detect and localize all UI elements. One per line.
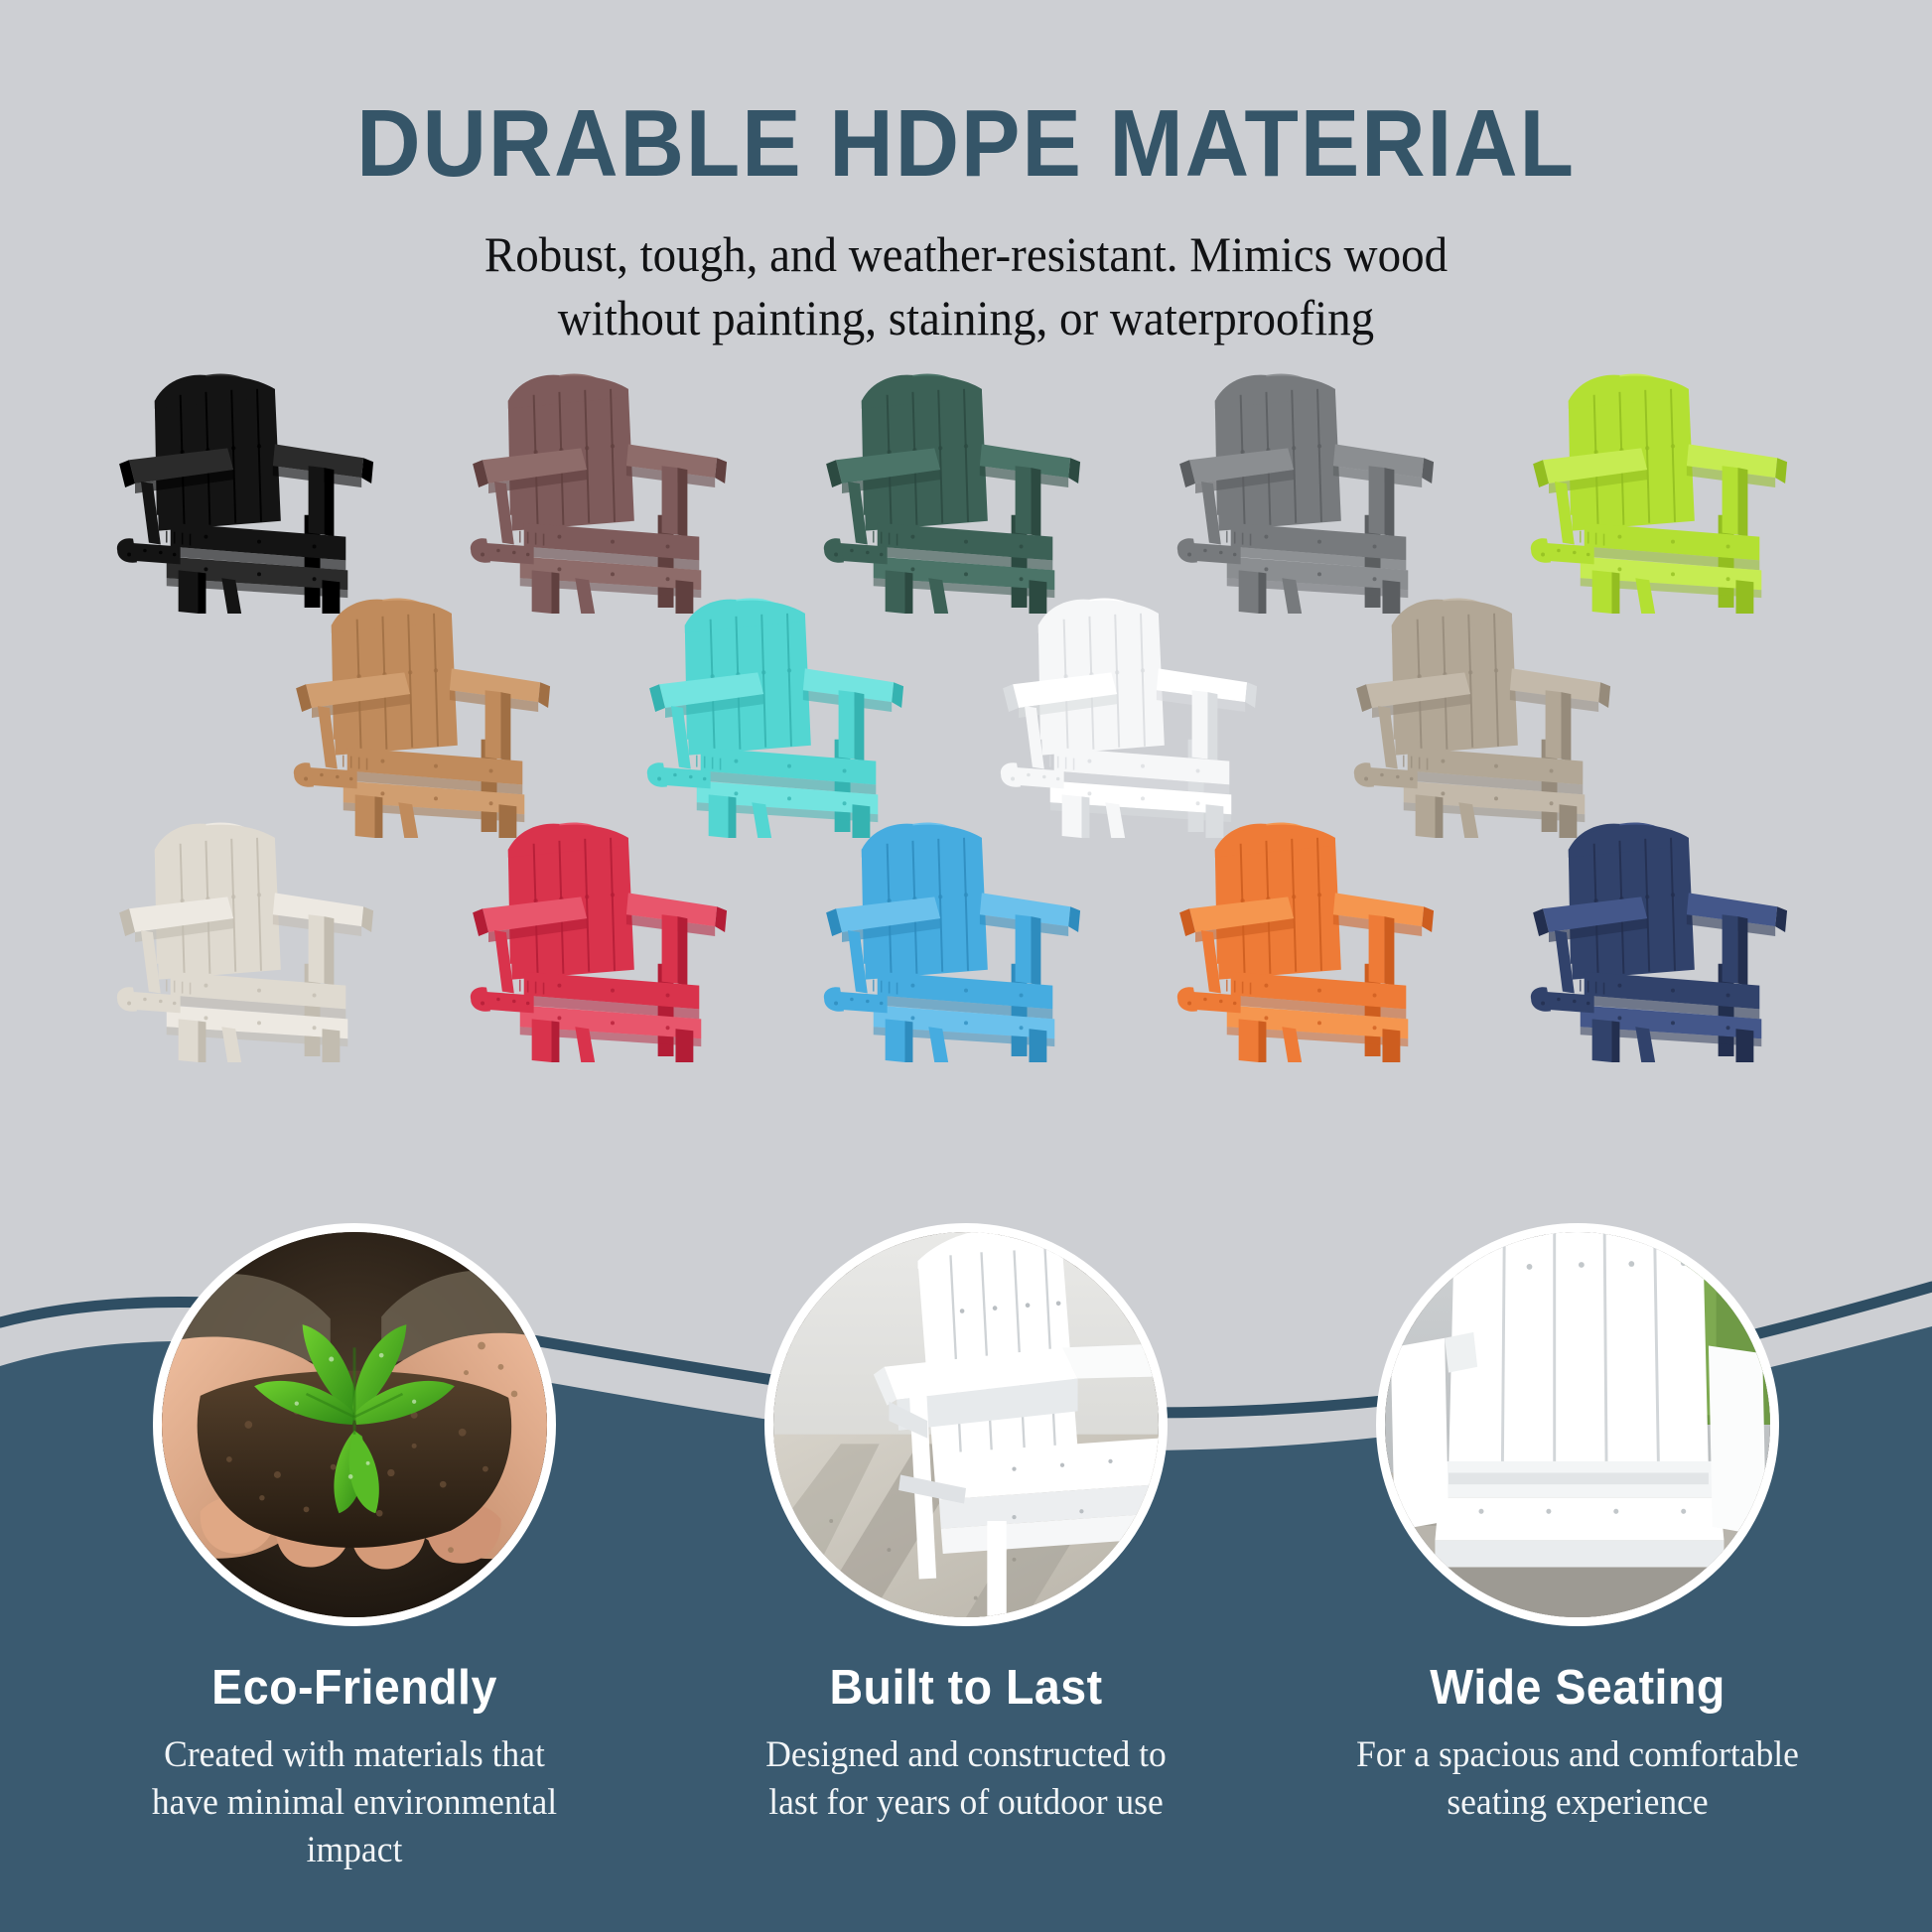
header: DURABLE HDPE MATERIAL Robust, tough, and… (0, 0, 1932, 349)
chair-swatch-navy-blue[interactable] (1524, 816, 1822, 1062)
feature-title: Built to Last (731, 1660, 1202, 1716)
feature-title: Wide Seating (1342, 1660, 1814, 1716)
chair-swatch-teak[interactable] (287, 592, 585, 838)
white-adirondack-wide-seat-photo (1376, 1223, 1779, 1626)
chair-swatch-ivory[interactable] (110, 816, 408, 1062)
page-subtitle: Robust, tough, and weather-resistant. Mi… (415, 222, 1516, 349)
chair-swatch-brown-mauve[interactable] (464, 367, 761, 614)
adirondack-chair-light-blue (817, 816, 1115, 1062)
feature-section: Eco-Friendly Created with materials that… (0, 1223, 1932, 1874)
chair-row-2 (0, 592, 1932, 838)
feature-title: Eco-Friendly (119, 1660, 591, 1716)
chair-swatch-lime-green[interactable] (1524, 367, 1822, 614)
adirondack-chair-ivory (110, 816, 408, 1062)
chair-swatch-black[interactable] (110, 367, 408, 614)
infographic-stage: DURABLE HDPE MATERIAL Robust, tough, and… (0, 0, 1932, 1932)
page-title: DURABLE HDPE MATERIAL (68, 0, 1864, 193)
chair-swatch-gray[interactable] (1171, 367, 1468, 614)
adirondack-chair-white (994, 592, 1292, 838)
adirondack-chair-red (464, 816, 761, 1062)
feature-description: For a spacious and comfortable seating e… (1353, 1731, 1801, 1827)
adirondack-chair-turquoise (640, 592, 938, 838)
adirondack-chair-taupe (1347, 592, 1645, 838)
adirondack-chair-black (110, 367, 408, 614)
chair-swatch-light-blue[interactable] (817, 816, 1115, 1062)
adirondack-chair-brown-mauve (464, 367, 761, 614)
chair-swatch-orange[interactable] (1171, 816, 1468, 1062)
adirondack-chair-orange (1171, 816, 1468, 1062)
adirondack-chair-teak (287, 592, 585, 838)
chair-swatch-red[interactable] (464, 816, 761, 1062)
chair-swatch-taupe[interactable] (1347, 592, 1645, 838)
chair-row-3 (0, 816, 1932, 1062)
chair-row-1 (0, 367, 1932, 614)
chair-swatch-turquoise[interactable] (640, 592, 938, 838)
white-adirondack-chair-patio-photo (764, 1223, 1168, 1626)
chair-swatch-white[interactable] (994, 592, 1292, 838)
adirondack-chair-gray (1171, 367, 1468, 614)
adirondack-chair-navy-blue (1524, 816, 1822, 1062)
feature-eco-friendly: Eco-Friendly Created with materials that… (106, 1223, 603, 1874)
feature-description: Designed and constructed to last for yea… (742, 1731, 1189, 1827)
adirondack-chair-lime-green (1524, 367, 1822, 614)
chair-swatch-dark-green[interactable] (817, 367, 1115, 614)
adirondack-chair-dark-green (817, 367, 1115, 614)
feature-wide-seating: Wide Seating For a spacious and comforta… (1329, 1223, 1826, 1874)
feature-row: Eco-Friendly Created with materials that… (0, 1223, 1932, 1874)
feature-description: Created with materials that have minimal… (130, 1731, 578, 1874)
seedling-in-hands-photo (153, 1223, 556, 1626)
chair-color-grid (0, 367, 1932, 1062)
feature-built-to-last: Built to Last Designed and constructed t… (718, 1223, 1214, 1874)
